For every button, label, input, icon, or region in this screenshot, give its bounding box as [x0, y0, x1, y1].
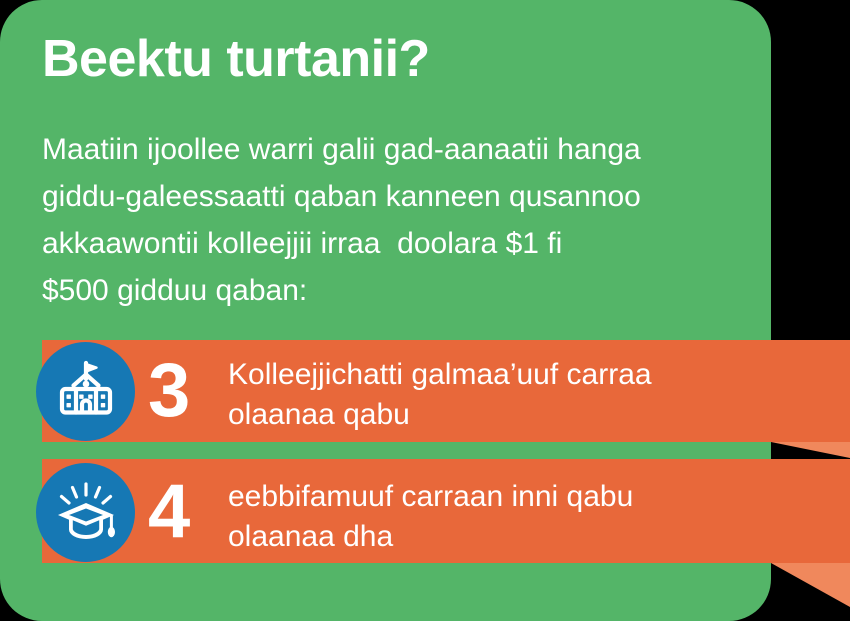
intro-paragraph-line-1: Maatiin ijoollee warri galii gad-aanaati… [42, 126, 772, 173]
item-fold-shadow [771, 442, 850, 458]
school-building-icon [53, 359, 119, 425]
intro-paragraph-line-3: akkaawontii kolleejjii irraa doolara $1 … [42, 220, 772, 267]
item-number: 4 [148, 469, 218, 555]
item-icon-badge [36, 342, 135, 441]
item-text-line-1: Kolleejjichatti galmaa’uuf carraa [228, 355, 788, 395]
item-text: Kolleejjichatti galmaa’uuf carraa olaana… [228, 355, 788, 435]
intro-paragraph: Maatiin ijoollee warri galii gad-aanaati… [42, 126, 772, 314]
page-title: Beektu turtanii? [42, 32, 742, 87]
item-fold-shadow [771, 563, 850, 607]
graduation-cap-icon [52, 479, 120, 547]
item-text-line-2: olaanaa dha [228, 517, 788, 557]
infographic-card: Beektu turtanii? Maatiin ijoollee warri … [0, 0, 850, 621]
item-text-line-1: eebbifamuuf carraan inni qabu [228, 477, 788, 517]
item-number: 3 [148, 348, 218, 434]
intro-paragraph-line-4: $500 gidduu qaban: [42, 267, 772, 314]
item-text-line-2: olaanaa qabu [228, 395, 788, 435]
item-text: eebbifamuuf carraan inni qabu olaanaa dh… [228, 477, 788, 557]
item-icon-badge [36, 463, 135, 562]
intro-paragraph-line-2: giddu-galeessaatti qaban kanneen qusanno… [42, 173, 772, 220]
